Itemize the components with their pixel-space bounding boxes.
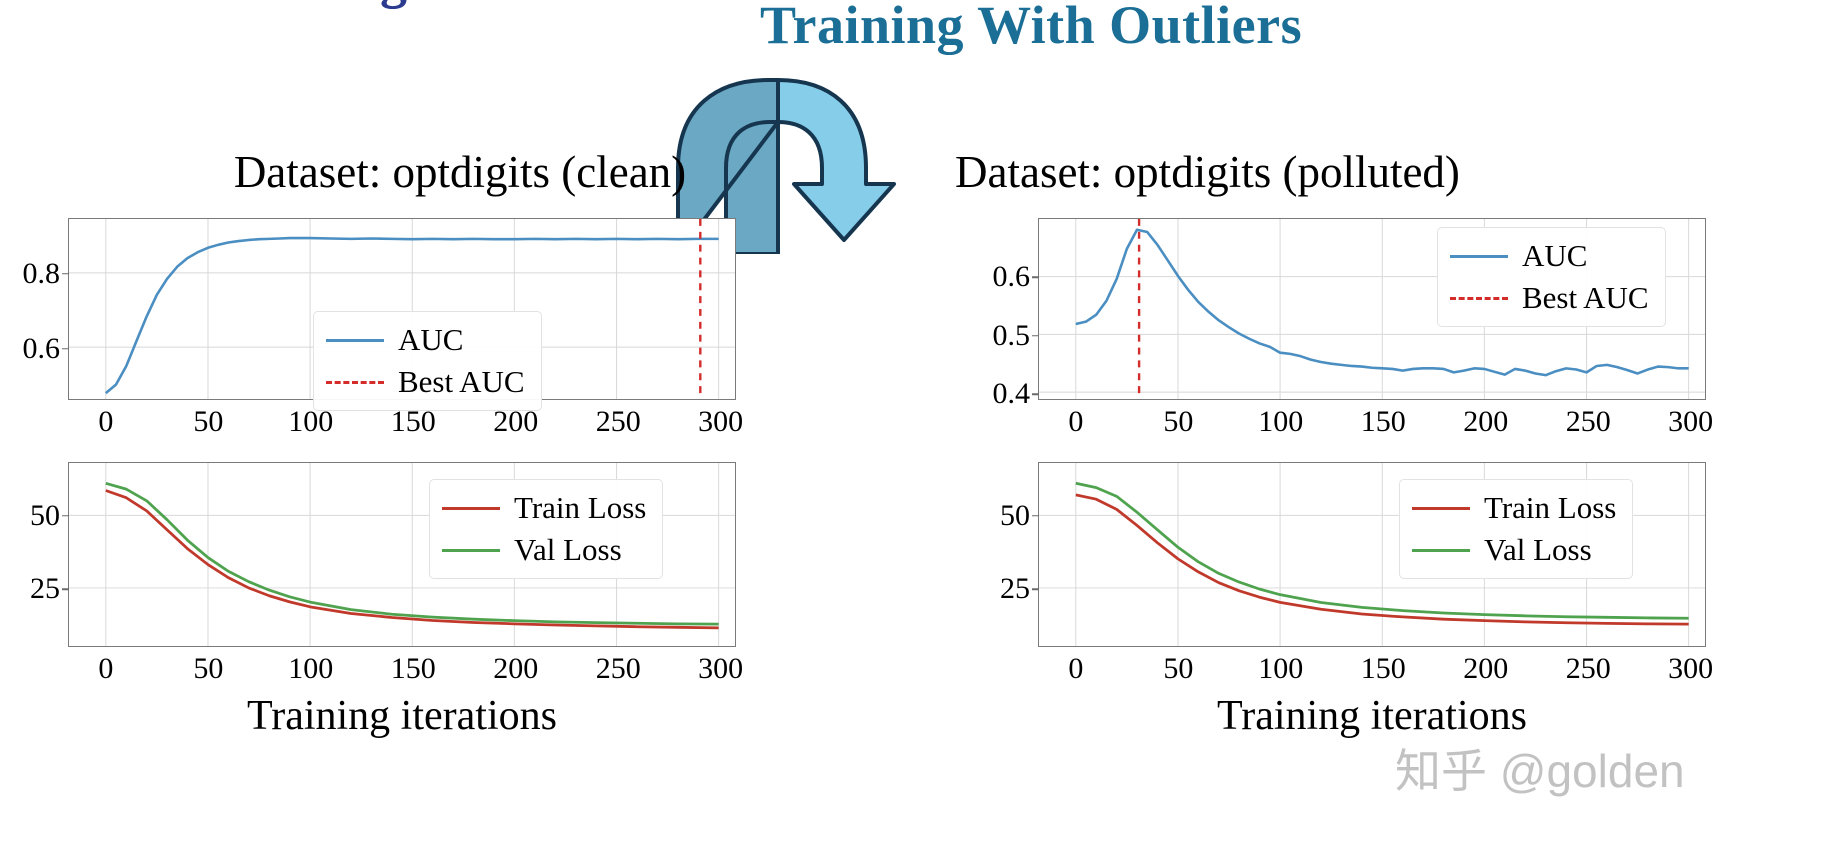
- legend-item-auc[interactable]: AUC: [326, 319, 525, 361]
- panel-clean: Dataset: optdigits (clean): [0, 150, 880, 846]
- legend-swatch-auc-icon: [326, 339, 384, 342]
- loss-ytick-clean-1: 50: [30, 499, 69, 533]
- legend-label-best-auc: Best AUC: [398, 364, 525, 400]
- auc-plot-area-clean: 0.6 0.8 0 50 100 150 200 250 300 AUC Bes…: [68, 218, 736, 400]
- legend-label-val-loss: Val Loss: [514, 532, 622, 568]
- auc-xtick-clean-6: 300: [698, 405, 743, 439]
- auc-chart-clean: 0.6 0.8 0 50 100 150 200 250 300 AUC Bes…: [68, 218, 736, 400]
- loss-ytick-clean-0: 25: [30, 572, 69, 606]
- legend-label-best-auc: Best AUC: [1522, 280, 1649, 316]
- legend-label-auc: AUC: [398, 322, 463, 358]
- legend-item-best-auc[interactable]: Best AUC: [326, 361, 525, 403]
- auc-plot-area-polluted: 0.4 0.5 0.6 0 50 100 150 200 250 300 AUC: [1038, 218, 1706, 400]
- legend-item-train-loss[interactable]: Train Loss: [1412, 487, 1616, 529]
- auc-legend-polluted[interactable]: AUC Best AUC: [1437, 227, 1666, 327]
- loss-plot-area-polluted: 25 50 0 50 100 150 200 250 300 Training …: [1038, 462, 1706, 647]
- legend-swatch-best-auc-icon: [1450, 297, 1508, 300]
- legend-swatch-best-auc-icon: [326, 381, 384, 384]
- xaxis-label-clean: Training iterations: [247, 692, 557, 740]
- dataset-title-polluted: Dataset: optdigits (polluted): [905, 150, 1835, 195]
- dataset-title-clean: Dataset: optdigits (clean): [0, 150, 880, 195]
- loss-chart-polluted: 25 50 0 50 100 150 200 250 300 Training …: [1038, 462, 1706, 647]
- legend-item-auc[interactable]: AUC: [1450, 235, 1649, 277]
- auc-xtick-polluted-3: 150: [1361, 405, 1406, 439]
- loss-xtick-clean-6: 300: [698, 652, 743, 686]
- legend-swatch-val-loss-icon: [442, 549, 500, 552]
- slide-canvas: g Training With Outliers Dataset: optdig…: [0, 0, 1835, 846]
- auc-xtick-polluted-2: 100: [1258, 405, 1303, 439]
- loss-plot-area-clean: 25 50 0 50 100 150 200 250 300 Training …: [68, 462, 736, 647]
- auc-xtick-polluted-6: 300: [1668, 405, 1713, 439]
- loss-legend-polluted[interactable]: Train Loss Val Loss: [1399, 479, 1633, 579]
- auc-chart-polluted: 0.4 0.5 0.6 0 50 100 150 200 250 300 AUC: [1038, 218, 1706, 400]
- loss-xtick-clean-4: 200: [493, 652, 538, 686]
- loss-ytick-polluted-1: 50: [1000, 499, 1039, 533]
- legend-item-val-loss[interactable]: Val Loss: [1412, 529, 1616, 571]
- loss-legend-clean[interactable]: Train Loss Val Loss: [429, 479, 663, 579]
- loss-xtick-polluted-4: 200: [1463, 652, 1508, 686]
- legend-swatch-train-loss-icon: [1412, 507, 1470, 510]
- auc-xtick-polluted-0: 0: [1068, 405, 1083, 439]
- loss-xtick-clean-0: 0: [98, 652, 113, 686]
- loss-xtick-clean-5: 250: [596, 652, 641, 686]
- auc-ytick-clean-1: 0.8: [23, 257, 70, 291]
- legend-label-auc: AUC: [1522, 238, 1587, 274]
- legend-item-best-auc[interactable]: Best AUC: [1450, 277, 1649, 319]
- loss-xtick-polluted-2: 100: [1258, 652, 1303, 686]
- legend-swatch-val-loss-icon: [1412, 549, 1470, 552]
- legend-item-train-loss[interactable]: Train Loss: [442, 487, 646, 529]
- page-title: Training With Outliers: [760, 0, 1302, 56]
- auc-xtick-clean-5: 250: [596, 405, 641, 439]
- loss-xtick-polluted-6: 300: [1668, 652, 1713, 686]
- auc-xtick-polluted-4: 200: [1463, 405, 1508, 439]
- loss-xtick-polluted-0: 0: [1068, 652, 1083, 686]
- auc-ytick-clean-0: 0.6: [23, 332, 70, 366]
- loss-xtick-clean-1: 50: [193, 652, 223, 686]
- loss-xtick-polluted-3: 150: [1361, 652, 1406, 686]
- auc-xtick-clean-1: 50: [193, 405, 223, 439]
- headline-clipped-fragment: g: [380, 0, 408, 10]
- auc-ytick-polluted-2: 0.6: [993, 260, 1040, 294]
- loss-xtick-clean-3: 150: [391, 652, 436, 686]
- loss-chart-clean: 25 50 0 50 100 150 200 250 300 Training …: [68, 462, 736, 647]
- auc-ytick-polluted-1: 0.5: [993, 319, 1040, 353]
- auc-xtick-clean-0: 0: [98, 405, 113, 439]
- loss-xtick-polluted-5: 250: [1566, 652, 1611, 686]
- auc-xtick-polluted-1: 50: [1163, 405, 1193, 439]
- auc-ytick-polluted-0: 0.4: [993, 377, 1040, 411]
- panel-polluted: Dataset: optdigits (polluted): [905, 150, 1835, 846]
- legend-swatch-train-loss-icon: [442, 507, 500, 510]
- auc-legend-clean[interactable]: AUC Best AUC: [313, 311, 542, 411]
- legend-label-train-loss: Train Loss: [514, 490, 646, 526]
- auc-xtick-polluted-5: 250: [1566, 405, 1611, 439]
- legend-item-val-loss[interactable]: Val Loss: [442, 529, 646, 571]
- legend-label-train-loss: Train Loss: [1484, 490, 1616, 526]
- legend-swatch-auc-icon: [1450, 255, 1508, 258]
- xaxis-label-polluted: Training iterations: [1217, 692, 1527, 740]
- loss-xtick-polluted-1: 50: [1163, 652, 1193, 686]
- loss-ytick-polluted-0: 25: [1000, 572, 1039, 606]
- loss-xtick-clean-2: 100: [288, 652, 333, 686]
- legend-label-val-loss: Val Loss: [1484, 532, 1592, 568]
